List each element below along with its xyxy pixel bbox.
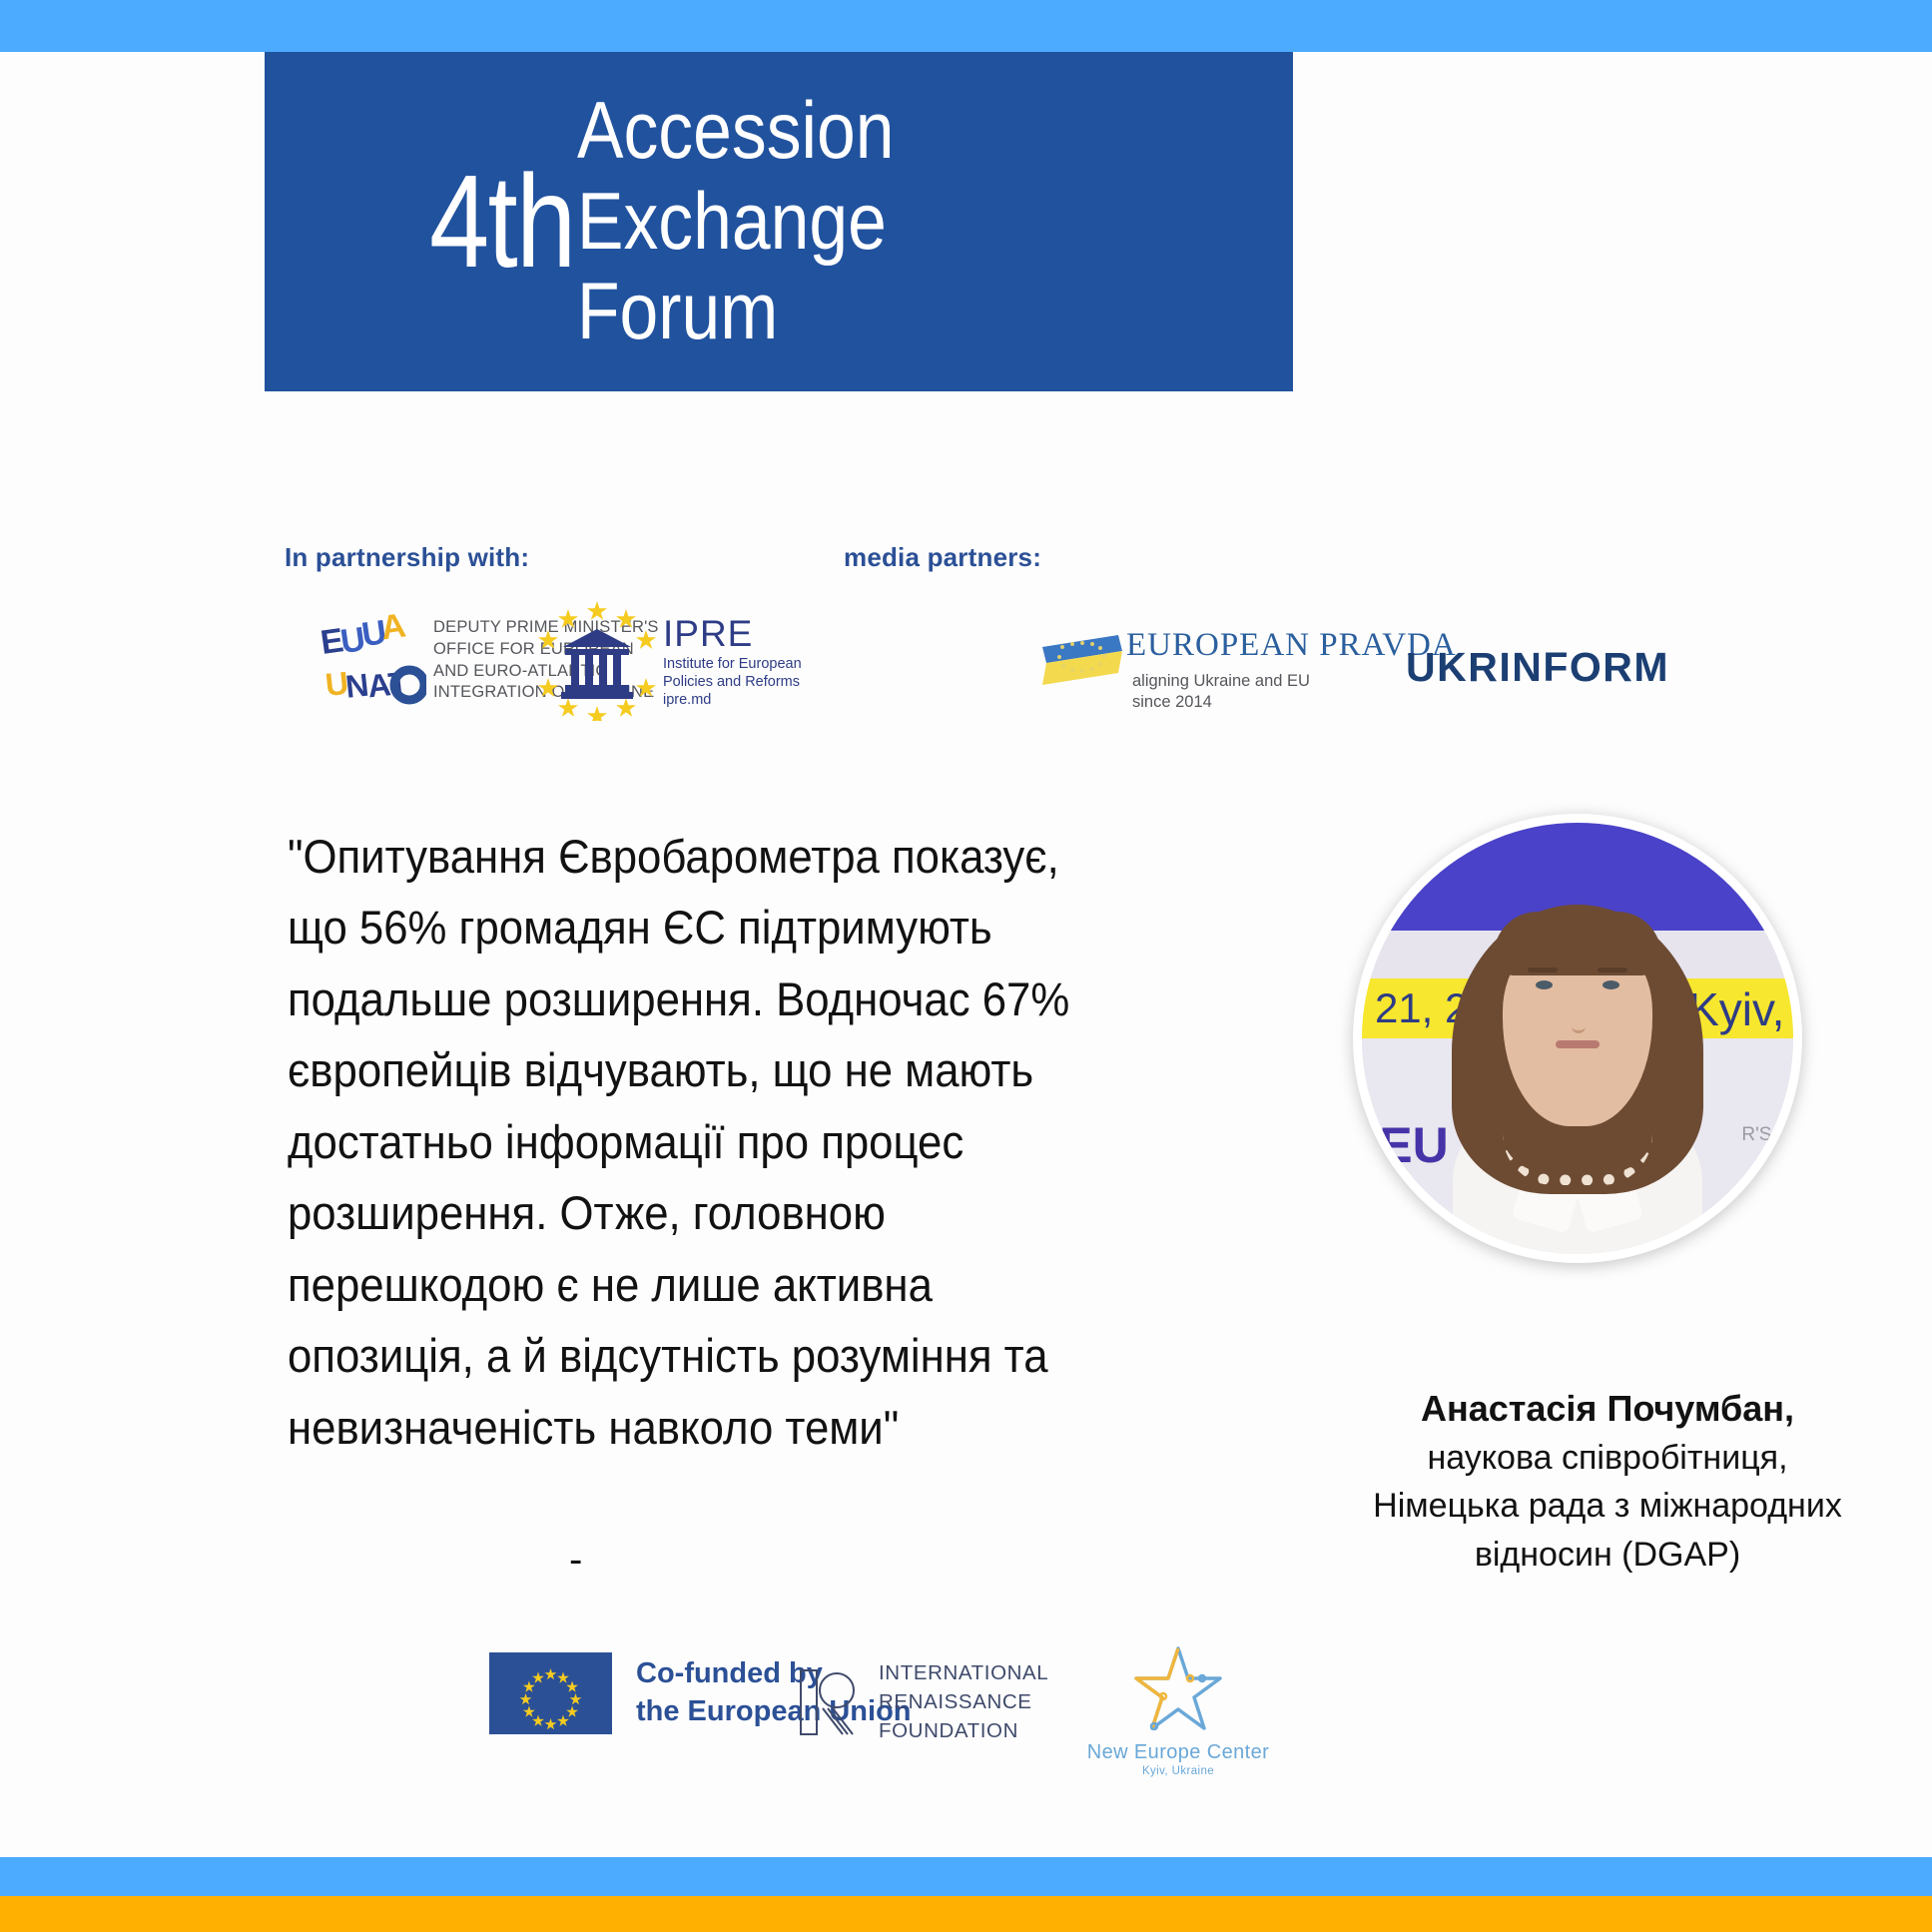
header-block: 4th Accession Exchange Forum [265, 52, 1293, 391]
eu-stars-circle-icon [489, 1652, 612, 1734]
speaker-role-line-3: відносин (DGAP) [1293, 1531, 1922, 1579]
person-eyebrow-right [1598, 967, 1627, 972]
quote-dash: - [569, 1538, 582, 1583]
european-pravda-tagline: aligning Ukraine and EU since 2014 [1132, 671, 1310, 714]
speaker-avatar: 21, 202 Kyiv, EU R'S [1353, 814, 1802, 1263]
person-nose [1572, 1008, 1586, 1033]
bottom-blue-band [0, 1857, 1932, 1896]
speaker-role-line-1: наукова співробітниця, [1293, 1434, 1922, 1482]
person-eyebrow-left [1528, 967, 1558, 972]
speaker-role-line-2: Німецька рада з міжнародних [1293, 1482, 1922, 1530]
poster-canvas: 4th Accession Exchange Forum In partners… [0, 0, 1932, 1932]
top-accent-band [0, 0, 1932, 52]
eu-nato-office-logo: E U U A U N AT DEPUTY PRIME MINISTER'S O… [322, 605, 521, 715]
ukraine-eu-flag-icon [1038, 631, 1124, 691]
person-mouth [1556, 1040, 1600, 1048]
backdrop-eu-text: EU [1379, 1116, 1448, 1174]
ipre-logo: IPRE Institute for European Policies and… [535, 597, 725, 721]
nec-name: New Europe Center [1078, 1741, 1278, 1764]
new-europe-center-logo: New Europe Center Kyiv, Ukraine [1078, 1642, 1278, 1777]
quote-text: "Опитування Євробарометра показує, що 56… [288, 821, 1095, 1463]
european-pravda-logo: EUROPEAN PRAVDA aligning Ukraine and EU … [1038, 627, 1368, 719]
ipre-sub-line-3: ipre.md [663, 691, 802, 709]
irf-text: INTERNATIONAL RENAISSANCE FOUNDATION [879, 1658, 1048, 1745]
speaker-photo: 21, 202 Kyiv, EU R'S [1362, 823, 1793, 1254]
svg-text:A: A [378, 609, 408, 647]
ipre-sub-line-2: Policies and Reforms [663, 673, 802, 691]
nec-location: Kyiv, Ukraine [1078, 1765, 1278, 1777]
header-title: Accession Exchange Forum [577, 86, 894, 357]
speaker-caption: Анастасія Почумбан, наукова співробітниц… [1293, 1383, 1922, 1579]
ipre-temple-stars-icon [535, 597, 659, 721]
person-eye-left [1536, 980, 1553, 989]
speaker-name: Анастасія Почумбан, [1293, 1383, 1922, 1434]
bottom-yellow-band [0, 1896, 1932, 1932]
header-ordinal: 4th [429, 156, 575, 288]
ipre-name: IPRE [663, 615, 802, 652]
pravda-sub-line-1: aligning Ukraine and EU [1132, 671, 1310, 692]
irf-line-1: INTERNATIONAL [879, 1658, 1048, 1687]
media-partners-label: media partners: [844, 542, 1041, 573]
irf-mark-icon [799, 1666, 861, 1738]
header-title-line-1: Accession [577, 86, 894, 177]
backdrop-city-text: Kyiv, [1688, 982, 1784, 1036]
person-fringe [1494, 912, 1661, 975]
nec-star-icon [1128, 1642, 1228, 1734]
header-title-line-3: Forum [577, 267, 894, 357]
backdrop-office-text: R'S [1741, 1124, 1771, 1146]
partnership-label: In partnership with: [285, 542, 529, 573]
irf-line-3: FOUNDATION [879, 1716, 1048, 1745]
ipre-subtitle: Institute for European Policies and Refo… [663, 655, 802, 709]
eu-nato-mark-icon: E U U A U N AT [322, 609, 426, 709]
person-eye-right [1603, 980, 1619, 989]
eu-flag-icon [489, 1652, 612, 1734]
footer-logos: Co-funded by the European Union INTERNAT… [489, 1642, 1488, 1777]
ukrinform-logo: UKRINFORM [1406, 644, 1669, 691]
ipre-sub-line-1: Institute for European [663, 655, 802, 673]
international-renaissance-foundation-logo: INTERNATIONAL RENAISSANCE FOUNDATION [799, 1658, 1048, 1745]
ipre-text: IPRE Institute for European Policies and… [663, 615, 802, 709]
irf-line-2: RENAISSANCE [879, 1687, 1048, 1716]
header-title-line-2: Exchange [577, 177, 894, 268]
pravda-sub-line-2: since 2014 [1132, 692, 1310, 713]
